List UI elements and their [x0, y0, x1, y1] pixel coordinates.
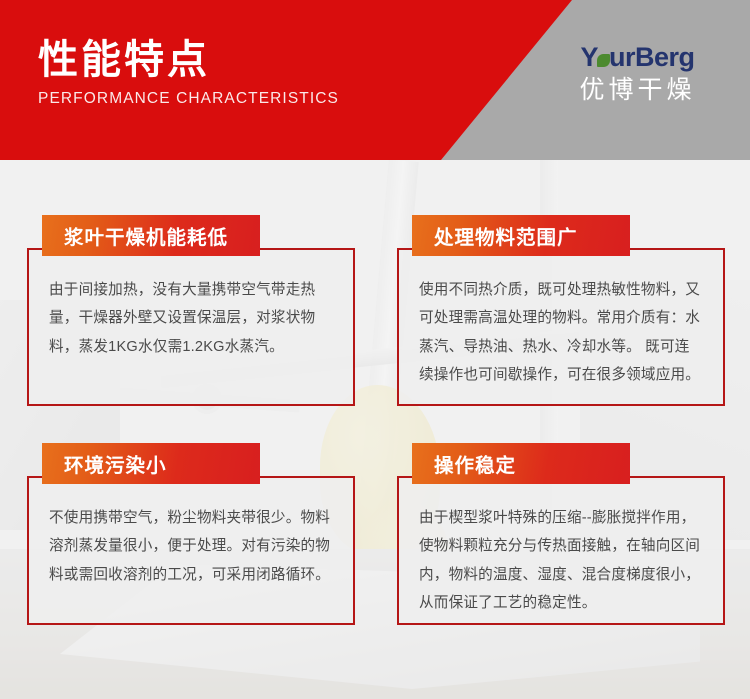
- feature-card: 使用不同热介质，既可处理热敏性物料，又可处理需高温处理的物料。常用介质有：水蒸汽…: [397, 248, 725, 406]
- page-header-banner: 性能特点 PERFORMANCE CHARACTERISTICS YurBerg…: [0, 0, 750, 160]
- company-logo: YurBerg 优博干燥: [555, 44, 720, 105]
- feature-card-title: 环境污染小: [64, 449, 167, 478]
- feature-card: 不使用携带空气，粉尘物料夹带很少。物料溶剂蒸发量很小，便于处理。对有污染的物料或…: [27, 476, 355, 625]
- feature-card-title-bar: 操作稳定: [412, 443, 630, 484]
- feature-card-title-bar: 处理物料范围广: [412, 215, 630, 256]
- feature-card-title: 浆叶干燥机能耗低: [64, 221, 228, 250]
- feature-card-title: 操作稳定: [434, 449, 516, 478]
- logo-wordmark-latin: YurBerg: [580, 44, 694, 71]
- page-title: 性能特点: [38, 38, 339, 82]
- feature-card-body: 由于楔型浆叶特殊的压缩--膨胀搅拌作用，使物料颗粒充分与传热面接触，在轴向区间内…: [399, 478, 723, 632]
- feature-card-body: 由于间接加热，没有大量携带空气带走热量，干燥器外壁又设置保温层，对浆状物料，蒸发…: [29, 250, 353, 375]
- feature-card-body: 不使用携带空气，粉尘物料夹带很少。物料溶剂蒸发量很小，便于处理。对有污染的物料或…: [29, 478, 353, 603]
- feature-card: 由于间接加热，没有大量携带空气带走热量，干燥器外壁又设置保温层，对浆状物料，蒸发…: [27, 248, 355, 406]
- logo-leaf-icon: [597, 54, 610, 67]
- logo-letters-ur: ur: [609, 42, 635, 72]
- header-title-group: 性能特点 PERFORMANCE CHARACTERISTICS: [38, 38, 339, 108]
- feature-card-title: 处理物料范围广: [434, 221, 578, 250]
- performance-characteristics-page: 性能特点 PERFORMANCE CHARACTERISTICS YurBerg…: [0, 0, 750, 699]
- logo-letters-berg: Berg: [635, 42, 695, 72]
- page-subtitle: PERFORMANCE CHARACTERISTICS: [38, 90, 339, 108]
- logo-wordmark-chinese: 优博干燥: [555, 77, 720, 105]
- feature-card-body: 使用不同热介质，既可处理热敏性物料，又可处理需高温处理的物料。常用介质有：水蒸汽…: [399, 250, 723, 404]
- logo-letter-y: Y: [580, 42, 598, 72]
- feature-card-title-bar: 环境污染小: [42, 443, 260, 484]
- feature-card: 由于楔型浆叶特殊的压缩--膨胀搅拌作用，使物料颗粒充分与传热面接触，在轴向区间内…: [397, 476, 725, 625]
- feature-card-title-bar: 浆叶干燥机能耗低: [42, 215, 260, 256]
